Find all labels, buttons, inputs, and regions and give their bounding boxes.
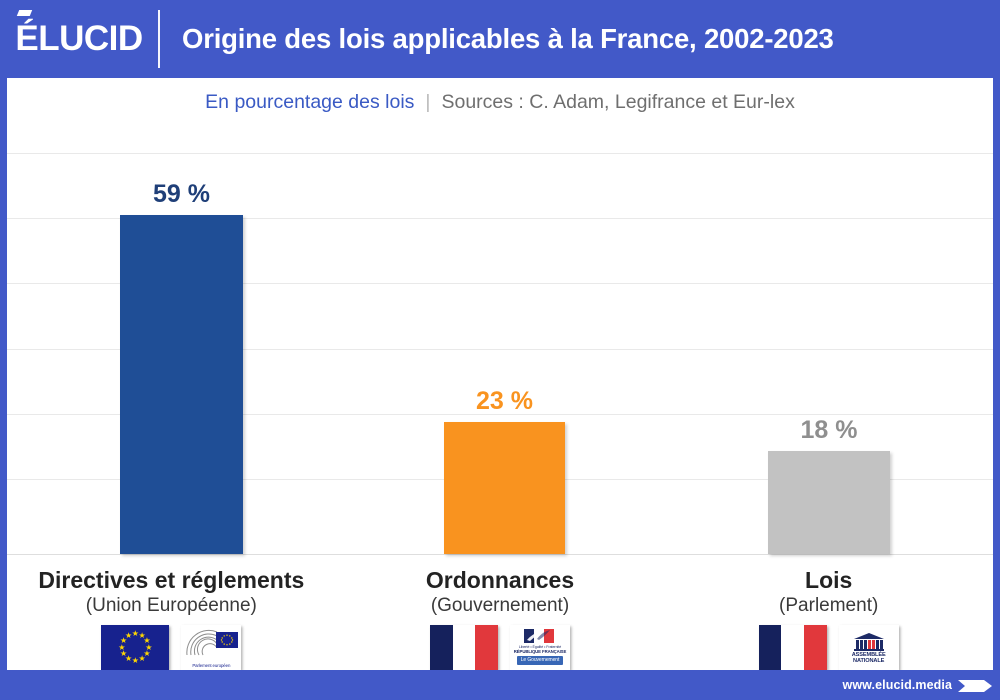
bar-value-label-ordonnances: 23 % <box>414 387 595 416</box>
bar-directives[interactable] <box>120 215 243 554</box>
parliament-arcs-icon <box>183 628 219 656</box>
category-title: Ordonnances <box>426 568 574 594</box>
logo-wordmark: ÉLUCID <box>15 19 142 58</box>
chart-sources-label: Sources : C. Adam, Legifrance et Eur-lex <box>441 91 794 114</box>
french-flag-icon <box>759 625 827 670</box>
eu-star-icon: ★ <box>125 632 133 640</box>
republic-name: RÉPUBLIQUE FRANÇAISE <box>514 649 566 654</box>
eu-stars-icon <box>216 632 238 648</box>
bar-ordonnances[interactable] <box>444 422 565 554</box>
category-title: Directives et réglements <box>38 568 304 594</box>
chart-card: En pourcentage des lois | Sources : C. A… <box>7 78 993 670</box>
badge-group-gouvernement: Liberté • Égalité • Fraternité RÉPUBLIQU… <box>430 625 570 670</box>
header-divider <box>158 10 160 68</box>
category-group-directives: Directives et réglements (Union Européen… <box>7 568 336 670</box>
axis-baseline <box>7 554 993 555</box>
eu-flag-icon: ★★★★★★★★★★★★ <box>101 625 169 670</box>
subtitle-row: En pourcentage des lois | Sources : C. A… <box>7 86 993 118</box>
bar-lois[interactable] <box>768 451 890 554</box>
french-flag-icon <box>430 625 498 670</box>
assemblee-line2: NATIONALE <box>853 658 884 664</box>
ep-flag-icon <box>216 632 238 648</box>
subtitle-separator: | <box>425 91 430 114</box>
elucid-logo: ÉLUCID <box>0 19 158 59</box>
page-title: Origine des lois applicables à la France… <box>160 23 1000 55</box>
european-parliament-caption: Parlement européen <box>181 663 241 668</box>
bar-value-label-directives: 59 % <box>90 180 273 209</box>
badge-group-assemblee: ASSEMBLÉE NATIONALE <box>759 625 899 670</box>
category-subtitle: (Gouvernement) <box>431 595 569 616</box>
header-bar: ÉLUCID Origine des lois applicables à la… <box>0 0 1000 78</box>
gouvernement-caption: Le Gouvernement <box>517 656 564 665</box>
infographic-poster: ÉLUCID Origine des lois applicables à la… <box>0 0 1000 700</box>
category-labels-row: Directives et réglements (Union Européen… <box>7 568 993 670</box>
gouvernement-logo-icon: Liberté • Égalité • Fraternité RÉPUBLIQU… <box>510 625 570 670</box>
plot-area: 59 % 23 % 18 % <box>7 153 993 555</box>
site-url[interactable]: www.elucid.media <box>843 678 953 692</box>
badge-group-eu: ★★★★★★★★★★★★ <box>101 625 241 670</box>
footer-bar: www.elucid.media <box>0 670 1000 700</box>
category-subtitle: (Union Européenne) <box>86 595 257 616</box>
palais-bourbon-icon <box>852 632 886 652</box>
category-title: Lois <box>805 568 852 594</box>
accent-mark-icon <box>17 10 32 16</box>
bar-value-label-lois: 18 % <box>738 416 920 445</box>
category-group-ordonnances: Ordonnances (Gouvernement) <box>336 568 665 670</box>
chart-unit-label: En pourcentage des lois <box>205 91 414 114</box>
category-group-lois: Lois (Parlement) <box>664 568 993 670</box>
category-subtitle: (Parlement) <box>779 595 878 616</box>
elucid-arrow-icon <box>958 678 992 693</box>
gridline <box>7 153 993 154</box>
marianne-icon <box>523 627 557 644</box>
european-parliament-logo-icon: Parlement européen <box>181 625 241 670</box>
assemblee-nationale-logo-icon: ASSEMBLÉE NATIONALE <box>839 625 899 670</box>
